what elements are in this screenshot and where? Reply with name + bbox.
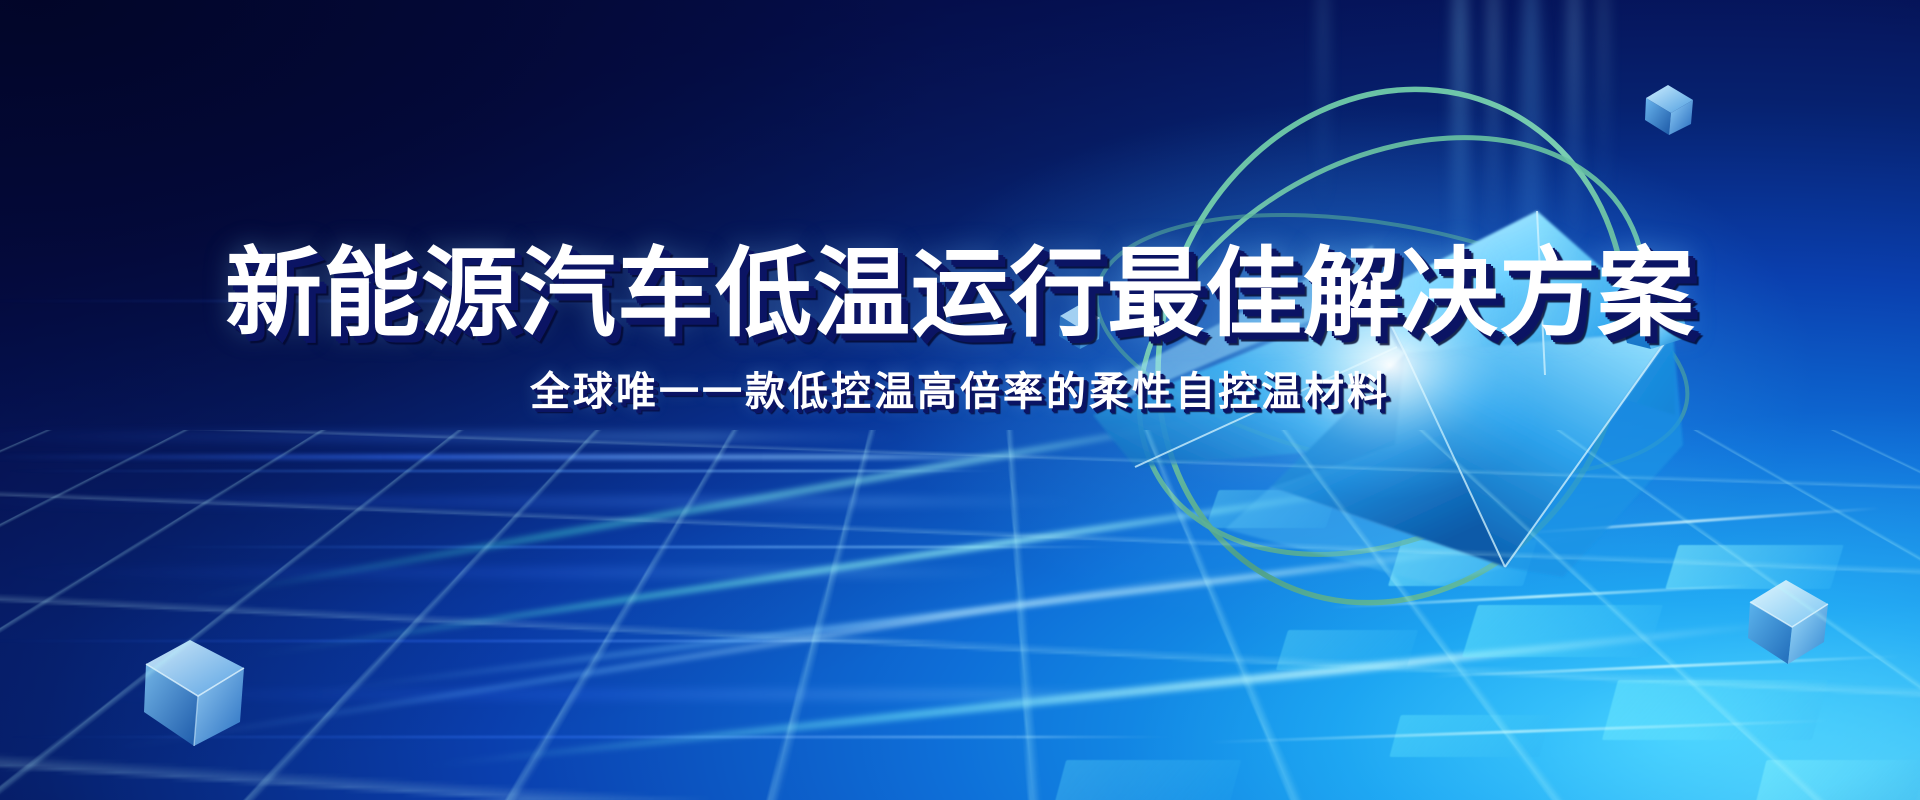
page-subtitle: 全球唯一一款低控温高倍率的柔性自控温材料 [530, 372, 1390, 412]
page-title: 新能源汽车低温运行最佳解决方案 [225, 245, 1695, 342]
banner-text-block: 新能源汽车低温运行最佳解决方案 全球唯一一款低控温高倍率的柔性自控温材料 [0, 0, 1920, 800]
hero-banner: 新能源汽车低温运行最佳解决方案 全球唯一一款低控温高倍率的柔性自控温材料 [0, 0, 1920, 800]
